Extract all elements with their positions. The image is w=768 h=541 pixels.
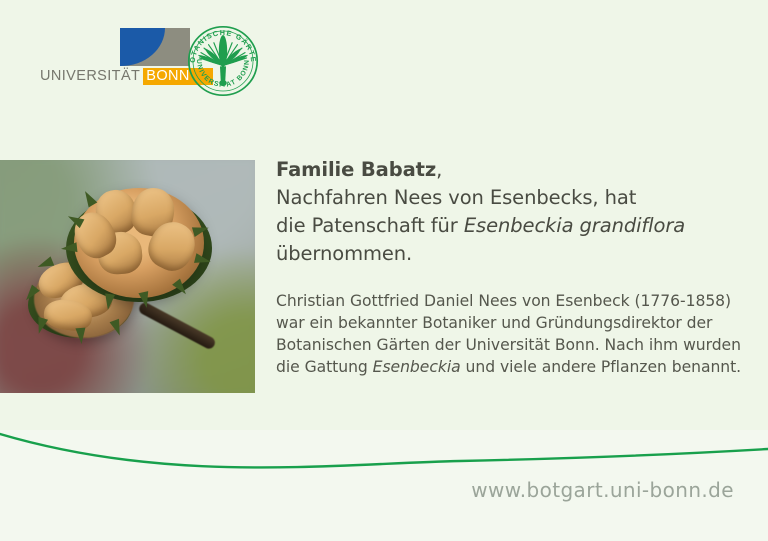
- sponsorship-card: UNIVERSITÄT BONN: [0, 0, 768, 541]
- sponsor-name: Familie Babatz: [276, 158, 436, 181]
- body-text-part-2: und viele andere Pflanzen benannt.: [461, 358, 741, 376]
- photo-spike: [75, 328, 86, 345]
- lead-line-4: übernommen.: [276, 242, 412, 265]
- uni-bonn-mark-blue-shape: [120, 28, 165, 66]
- logo-bar: UNIVERSITÄT BONN: [0, 0, 768, 120]
- photo-spike: [61, 242, 78, 254]
- lead-comma: ,: [436, 158, 442, 181]
- website-url[interactable]: www.botgart.uni-bonn.de: [471, 478, 734, 502]
- botanische-gaerten-seal[interactable]: BOTANISCHE GÄRTEN UNIVERSITAT BONN: [185, 23, 261, 99]
- text-column: Familie Babatz,Nachfahren Nees von Esenb…: [276, 156, 746, 378]
- lead-paragraph: Familie Babatz,Nachfahren Nees von Esenb…: [276, 156, 746, 268]
- lead-line-3-prefix: die Patenschaft für: [276, 214, 464, 237]
- body-paragraph: Christian Gottfried Daniel Nees von Esen…: [276, 290, 746, 378]
- genus-name: Esenbeckia: [373, 358, 461, 376]
- lead-line-2: Nachfahren Nees von Esenbecks, hat: [276, 186, 636, 209]
- plant-photo: [0, 160, 255, 393]
- uni-bonn-mark-icon: [120, 28, 190, 66]
- universitaet-bonn-logo[interactable]: UNIVERSITÄT BONN: [40, 28, 190, 84]
- uni-bonn-word-universitaet: UNIVERSITÄT: [40, 68, 143, 85]
- species-name: Esenbeckia grandiflora: [464, 214, 685, 237]
